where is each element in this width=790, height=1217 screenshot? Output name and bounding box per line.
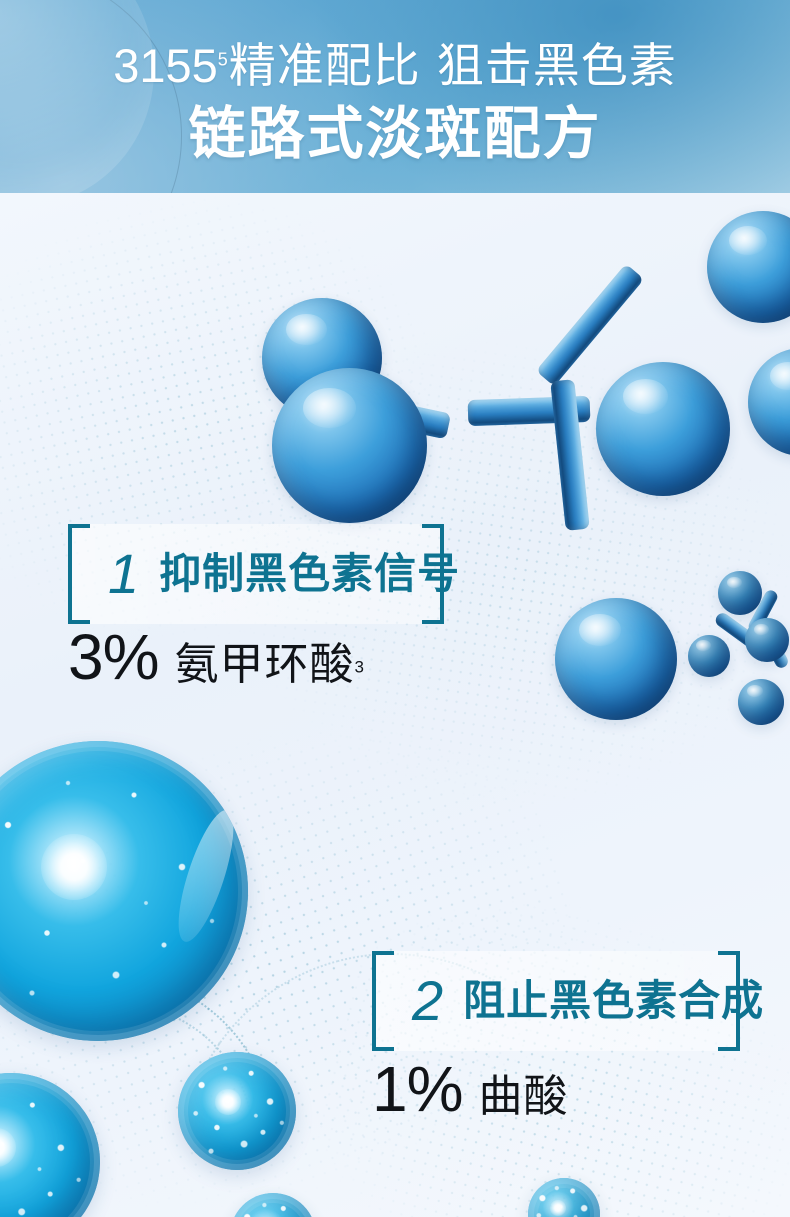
header-title-group: 31555精准配比狙击黑色素 链路式淡斑配方 (0, 0, 790, 193)
molecule-atom-left (272, 368, 427, 523)
ingredient-1-percent: 3% (68, 621, 159, 693)
ingredient-1-benefit-bracket: 1 抑制黑色素信号 (68, 524, 444, 624)
header-banner: 31555精准配比狙击黑色素 链路式淡斑配方 (0, 0, 790, 193)
bubble-tiny-bottom-right (528, 1178, 600, 1217)
bubble-rim (528, 1178, 600, 1217)
page-title: 链路式淡斑配方 (0, 88, 790, 170)
bubble-rim (178, 1052, 296, 1170)
molecule-small-atom-top (718, 571, 762, 615)
bubble-rim (0, 741, 248, 1041)
molecule-small-atom-center (745, 618, 789, 662)
molecule-bond-3 (536, 264, 644, 387)
promo-page: 31555精准配比狙击黑色素 链路式淡斑配方 (0, 0, 790, 1217)
bubble-rim (230, 1193, 316, 1217)
bubble-tiny-bottom-edge (230, 1193, 316, 1217)
header-subtitle: 31555精准配比狙击黑色素 (0, 27, 790, 96)
ingredient-1-footnote-marker: 3 (355, 658, 364, 677)
molecule-small-atom-bottom (738, 679, 784, 725)
ingredient-1-name: 氨甲环酸 (175, 640, 355, 689)
header-code-superscript: 5 (218, 49, 229, 69)
bubble-large-left (0, 741, 248, 1041)
ingredient-1-heading: 3%氨甲环酸3 (68, 625, 364, 689)
ingredient-1-step-number: 1 (108, 546, 139, 602)
ingredient-2-percent: 1% (372, 1053, 463, 1125)
ingredient-2-benefit-label: 阻止黑色素合成 (463, 980, 764, 1022)
header-subtitle-part-b: 狙击黑色素 (437, 39, 677, 92)
molecule-atom-bottom (555, 598, 677, 720)
ingredient-1-benefit-label: 抑制黑色素信号 (159, 553, 460, 595)
ingredient-2-step-number: 2 (412, 973, 443, 1029)
ingredient-2-heading: 1%曲酸 (372, 1057, 569, 1121)
content-area: 3%氨甲环酸3 1 抑制黑色素信号 1%曲酸 2 阻止黑色素合成 (0, 193, 790, 1217)
bubble-medium-bottom-left (0, 1073, 100, 1217)
molecule-atom-top-right (707, 211, 790, 323)
bubble-small-bottom-center (178, 1052, 296, 1170)
molecule-atom-right (748, 348, 790, 456)
header-code-number: 3155 (113, 39, 218, 92)
ingredient-2-benefit-bracket: 2 阻止黑色素合成 (372, 951, 740, 1051)
ingredient-2-name: 曲酸 (479, 1072, 569, 1121)
molecule-atom-junction (596, 362, 730, 496)
molecule-small-atom-left (688, 635, 730, 677)
ingredient-2-benefit-row: 2 阻止黑色素合成 (372, 951, 740, 1051)
ingredient-1-benefit-row: 1 抑制黑色素信号 (68, 524, 444, 624)
header-subtitle-part-a: 精准配比 (229, 39, 421, 92)
bubble-rim (0, 1073, 100, 1217)
